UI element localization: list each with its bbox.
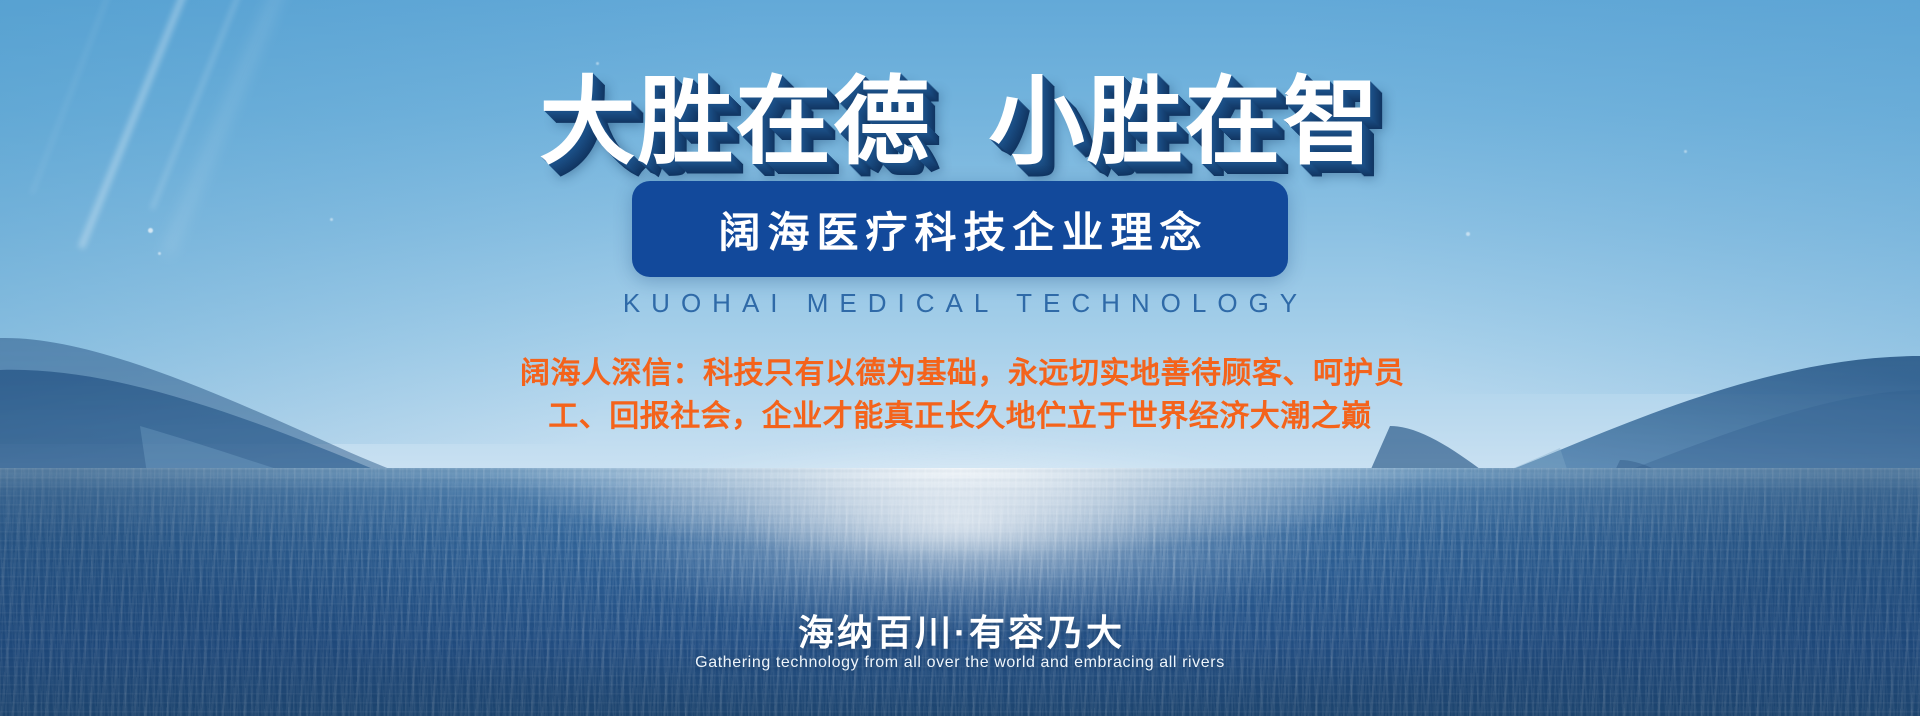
page-title: 大胜在德 小胜在智 [0,44,1920,183]
banner-content: 大胜在德 小胜在智 阔海医疗科技企业理念 KUOHAI MEDICAL TECH… [0,0,1920,716]
company-philosophy-badge: 阔海医疗科技企业理念 [632,181,1288,277]
bottom-slogan-english: Gathering technology from all over the w… [0,654,1920,672]
bottom-slogan-chinese: 海纳百川·有容乃大 [0,604,1920,656]
philosophy-paragraph: 阔海人深信：科技只有以德为基础，永远切实地善待顾客、呵护员 工、回报社会，企业才… [520,352,1400,438]
paragraph-line-2: 工、回报社会，企业才能真正长久地伫立于世界经济大潮之巅 [520,395,1400,438]
badge-label: 阔海医疗科技企业理念 [711,199,1208,260]
english-subtitle: KUOHAI MEDICAL TECHNOLOGY [0,288,1920,319]
banner-stage: 大胜在德 小胜在智 阔海医疗科技企业理念 KUOHAI MEDICAL TECH… [0,0,1920,716]
paragraph-line-1: 阔海人深信：科技只有以德为基础，永远切实地善待顾客、呵护员 [520,352,1400,395]
